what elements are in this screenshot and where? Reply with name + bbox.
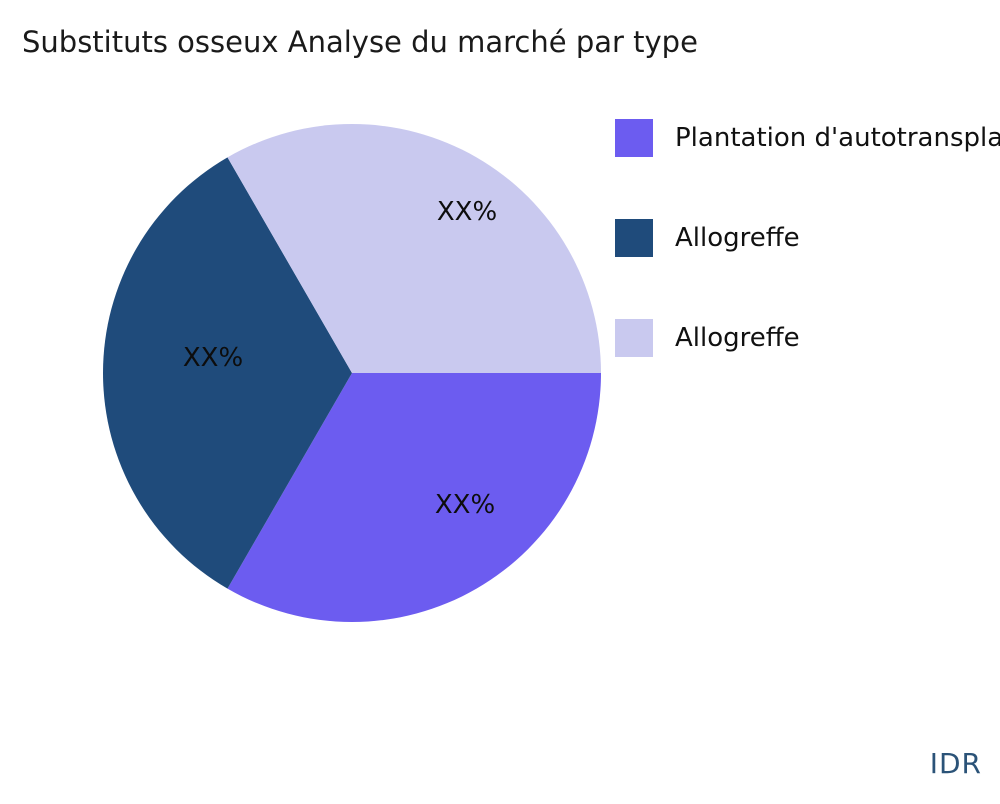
legend-swatch-icon [615,119,653,157]
legend-item-label: Allogreffe [675,323,800,353]
legend-item-label: Allogreffe [675,223,800,253]
legend-swatch-icon [615,219,653,257]
pie-chart-figure: Substituts osseux Analyse du marché par … [0,0,1000,800]
legend-item-allogreffe-light[interactable]: Allogreffe [615,318,800,358]
legend-item-allogreffe-dark[interactable]: Allogreffe [615,218,800,258]
legend-swatch-icon [615,319,653,357]
watermark-idr: IDR [930,747,982,780]
legend-item-autotransplantation[interactable]: Plantation d'autotransplantation [615,118,1000,158]
chart-legend: Plantation d'autotransplantation Allogre… [615,118,1000,363]
legend-item-label: Plantation d'autotransplantation [675,123,1000,153]
pie-slice-group [103,124,601,622]
